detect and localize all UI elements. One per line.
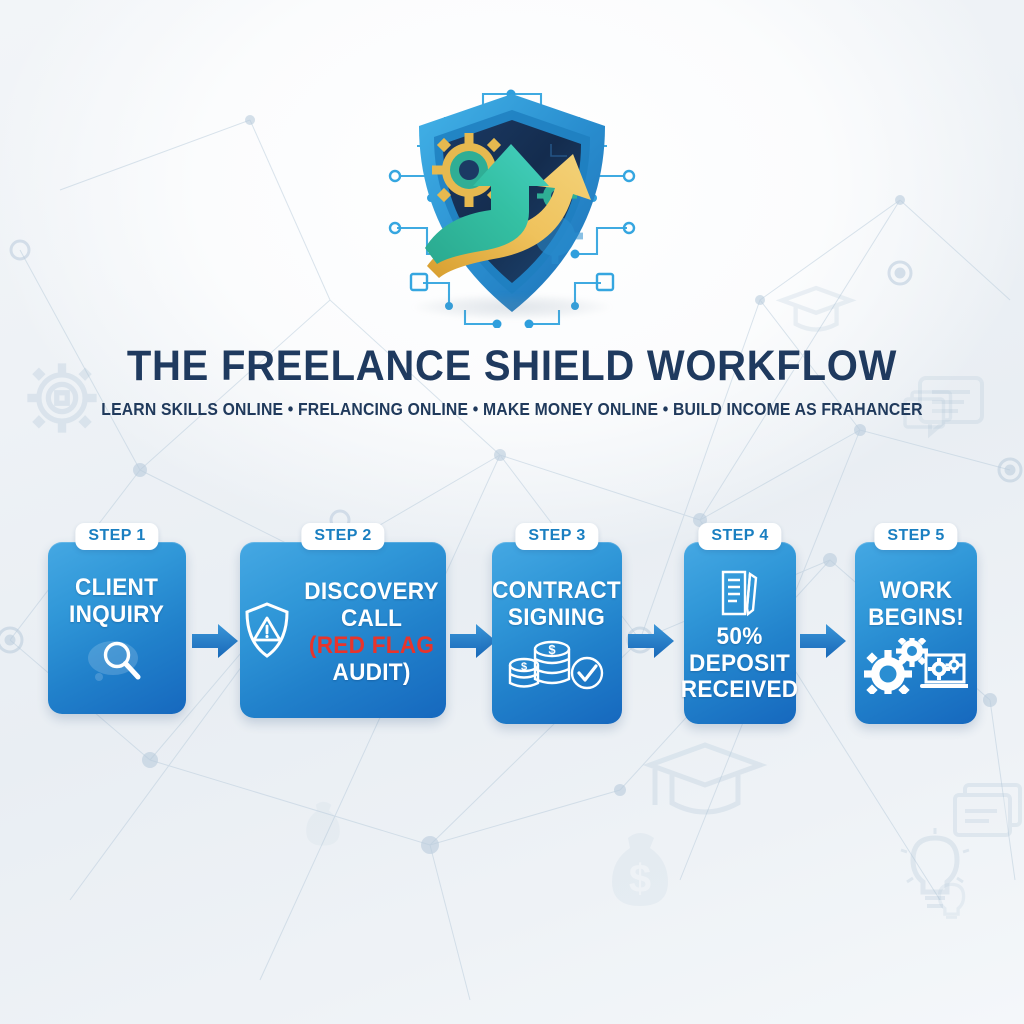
- title-block: THE FREELANCE SHIELD WORKFLOW LEARN SKIL…: [0, 344, 1024, 420]
- step-card-1[interactable]: STEP 1 CLIENT INQUIRY: [48, 542, 186, 714]
- svg-text:$: $: [521, 661, 527, 673]
- step-badge-1: STEP 1: [75, 523, 158, 550]
- freelance-shield-logo: [387, 78, 637, 328]
- arrow-right-icon-4: [800, 624, 846, 658]
- step-label-2-alert: (RED FLAG: [305, 633, 440, 660]
- svg-text:$: $: [548, 642, 556, 657]
- step-badge-2: STEP 2: [301, 523, 384, 550]
- shield-warning-icon: [242, 600, 292, 660]
- arrow-right-icon-3: [628, 624, 674, 658]
- logo-shadow: [412, 294, 612, 320]
- magnifier-icon: [86, 635, 148, 687]
- step-label-1: CLIENT INQUIRY: [69, 575, 164, 629]
- arrow-right-icon-2: [450, 624, 496, 658]
- coins-check-icon: $ $: [507, 638, 607, 694]
- step-badge-3: STEP 3: [515, 523, 598, 550]
- logo-container: [0, 78, 1024, 328]
- document-pen-icon: [717, 568, 763, 618]
- step-label-3: CONTRACT SIGNING: [493, 578, 622, 632]
- arrow-right-icon: [192, 624, 238, 658]
- page-subtitle: LEARN SKILLS ONLINE • FRELANCING ONLINE …: [51, 399, 973, 420]
- page-title: THE FREELANCE SHIELD WORKFLOW: [36, 344, 988, 389]
- step-card-3[interactable]: STEP 3 CONTRACT SIGNING $ $: [492, 542, 622, 724]
- step-card-5[interactable]: STEP 5 WORK BEGINS!: [855, 542, 977, 724]
- step-label-4: 50% DEPOSIT RECEIVED: [681, 624, 799, 705]
- workflow-steps: STEP 1 CLIENT INQUIRY STEP: [0, 528, 1024, 728]
- lightbulb-watermark-icon-2: [939, 884, 963, 917]
- step-badge-5: STEP 5: [874, 523, 957, 550]
- money-bag-watermark-icon: $: [612, 833, 668, 906]
- step-card-2[interactable]: STEP 2 DISCOVERY CALL (RED FLAG AUDIT): [240, 542, 446, 718]
- step-badge-4: STEP 4: [698, 523, 781, 550]
- money-bag-watermark-icon-2: [306, 802, 340, 846]
- svg-text:$: $: [629, 857, 651, 901]
- step-label-2: DISCOVERY CALL (RED FLAG AUDIT): [305, 579, 440, 687]
- step-label-5: WORK BEGINS!: [868, 578, 964, 632]
- lightbulb-watermark-icon: [901, 828, 969, 906]
- graduation-cap-watermark-icon: [650, 745, 760, 812]
- step-card-4[interactable]: STEP 4 50% DEPOSIT RECEIVED: [684, 542, 796, 724]
- browser-cards-watermark-icon: [955, 785, 1020, 835]
- gears-laptop-icon: [864, 638, 968, 694]
- infographic-canvas: $: [0, 0, 1024, 1024]
